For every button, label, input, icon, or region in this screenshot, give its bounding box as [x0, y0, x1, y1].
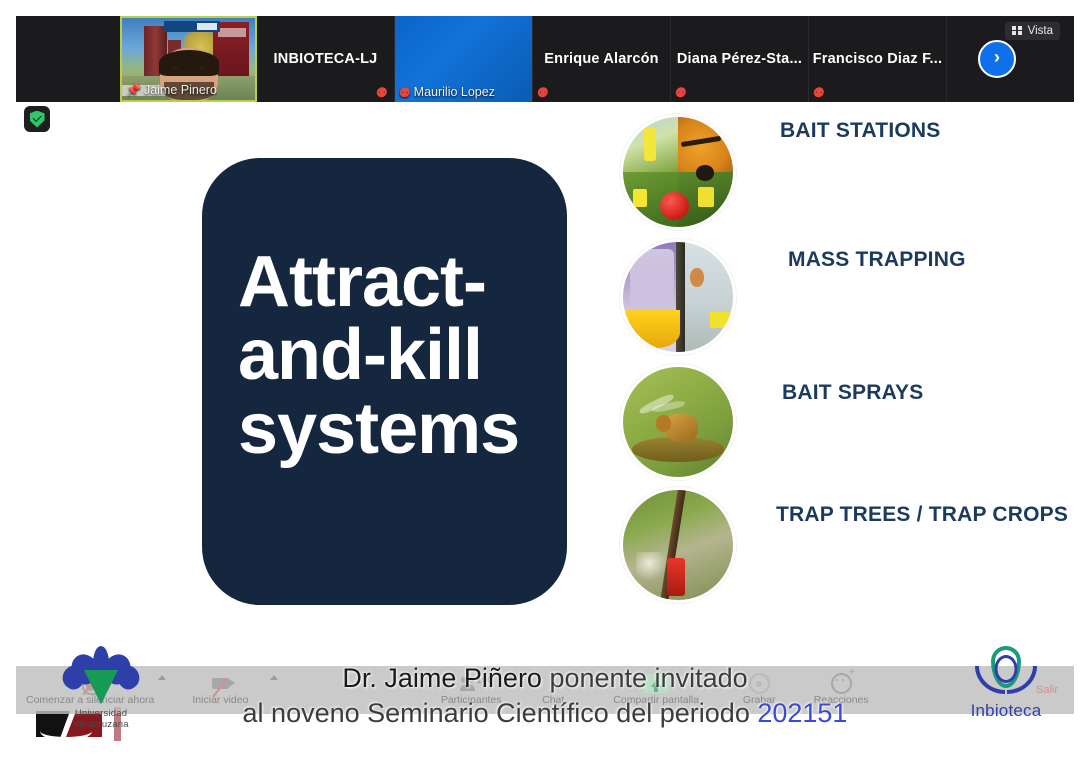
chat-bubble-icon — [544, 674, 562, 693]
window-frame-right — [1074, 0, 1090, 760]
view-button[interactable]: Vista — [1005, 22, 1060, 40]
zoom-window: 📌 Jaime Pinero INBIOTECA-LJ ⚉ ⚉ Maurilio… — [16, 16, 1074, 750]
participant-tile-enrique-alarcon[interactable]: Enrique Alarcón ⚉ — [533, 16, 671, 102]
record-icon — [749, 674, 770, 693]
universidad-veracruzana-logo: Universidad Veracruzana — [46, 646, 156, 726]
participant-name-badge: ⚉ Maurilio Lopez — [399, 85, 495, 99]
record-button[interactable]: Grabar — [718, 666, 800, 714]
participant-tile-francisco-diaz[interactable]: Francisco Diaz F... ⚉ — [809, 16, 947, 102]
participant-name: Jaime Pinero — [144, 83, 217, 97]
participant-name: Diana Pérez-Sta... — [677, 51, 802, 67]
slide-label-mass-trapping: MASS TRAPPING — [788, 247, 966, 274]
participant-name: Francisco Diaz F... — [813, 51, 943, 67]
bait-stations-photo — [620, 114, 736, 230]
meeting-toolbar[interactable]: Comenzar a silenciar ahora Iniciar video… — [16, 666, 1074, 714]
participants-button-label: Participantes — [441, 694, 502, 706]
people-icon: 100 — [460, 674, 482, 693]
chevron-right-icon[interactable]: › — [978, 40, 1016, 78]
slide-title-panel: Attract-and-kill systems — [202, 158, 567, 605]
participants-button[interactable]: 100 Participantes — [430, 666, 512, 714]
institute-name: Inbioteca — [960, 701, 1052, 721]
mic-off-icon: ⚉ — [812, 86, 825, 99]
view-button-label: Vista — [1028, 25, 1053, 37]
shared-screen-stage: Attract-and-kill systems BAIT STATIONS M… — [16, 102, 1074, 750]
slide-label-trap-trees: TRAP TREES / TRAP CROPS — [776, 502, 1068, 529]
mic-off-icon: ⚉ — [674, 86, 687, 99]
filmstrip-right-pad: Vista — [1047, 16, 1074, 102]
inbioteca-emblem-icon — [975, 646, 1037, 700]
participant-name: Enrique Alarcón — [544, 51, 658, 67]
mic-off-icon: ⚉ — [536, 86, 549, 99]
window-frame-left — [0, 0, 16, 760]
university-name: Universidad Veracruzana — [46, 708, 156, 730]
participant-name: Maurilio Lopez — [414, 85, 495, 99]
reactions-icon — [831, 674, 852, 693]
slide-label-bait-sprays: BAIT SPRAYS — [782, 380, 923, 407]
chevron-up-icon[interactable] — [270, 675, 278, 680]
mic-off-icon: ⚉ — [376, 86, 389, 99]
trap-trees-photo — [620, 487, 736, 603]
participant-tile-inbioteca-lj[interactable]: INBIOTECA-LJ ⚉ — [257, 16, 395, 102]
bait-sprays-photo — [620, 364, 736, 480]
start-video-button-label: Iniciar video — [192, 694, 248, 706]
chat-button-label: Chat — [542, 694, 564, 706]
slide-label-bait-stations: BAIT STATIONS — [780, 118, 940, 145]
reactions-button[interactable]: Reacciones — [800, 666, 882, 714]
participant-name-badge: 📌 Jaime Pinero — [126, 83, 217, 97]
participants-count: 100 — [476, 675, 493, 686]
window-frame-bottom — [0, 750, 1090, 760]
slide-title: Attract-and-kill systems — [238, 246, 538, 466]
participant-filmstrip[interactable]: 📌 Jaime Pinero INBIOTECA-LJ ⚉ ⚉ Maurilio… — [16, 16, 1074, 102]
participant-tile-maurilio-lopez[interactable]: ⚉ Maurilio Lopez — [395, 16, 533, 102]
mass-trapping-photo — [620, 239, 736, 355]
record-button-label: Grabar — [743, 694, 776, 706]
share-screen-icon — [643, 674, 669, 693]
share-screen-button-label: Compartir pantalla — [613, 694, 699, 706]
grid-icon — [1012, 26, 1023, 36]
participant-tile-jaime-pinero[interactable]: 📌 Jaime Pinero — [120, 16, 257, 102]
participant-tile-diana-perez[interactable]: Diana Pérez-Sta... ⚉ — [671, 16, 809, 102]
share-screen-button[interactable]: Compartir pantalla — [594, 666, 718, 714]
reactions-button-label: Reacciones — [814, 694, 869, 706]
camera-off-icon — [212, 674, 229, 693]
participant-name: INBIOTECA-LJ — [274, 51, 378, 67]
uv-emblem-icon — [62, 646, 140, 706]
inbioteca-logo: Inbioteca — [960, 646, 1052, 728]
start-video-button[interactable]: Iniciar video — [164, 666, 276, 714]
pin-icon: 📌 — [126, 84, 141, 96]
zoom-meeting-screen: 📌 Jaime Pinero INBIOTECA-LJ ⚉ ⚉ Maurilio… — [0, 0, 1090, 760]
mic-off-icon: ⚉ — [399, 86, 411, 99]
window-frame-top — [0, 0, 1090, 16]
shield-check-icon — [30, 111, 45, 128]
encryption-badge[interactable] — [24, 106, 50, 132]
filmstrip-left-pad — [16, 16, 120, 102]
chat-button[interactable]: Chat — [512, 666, 594, 714]
